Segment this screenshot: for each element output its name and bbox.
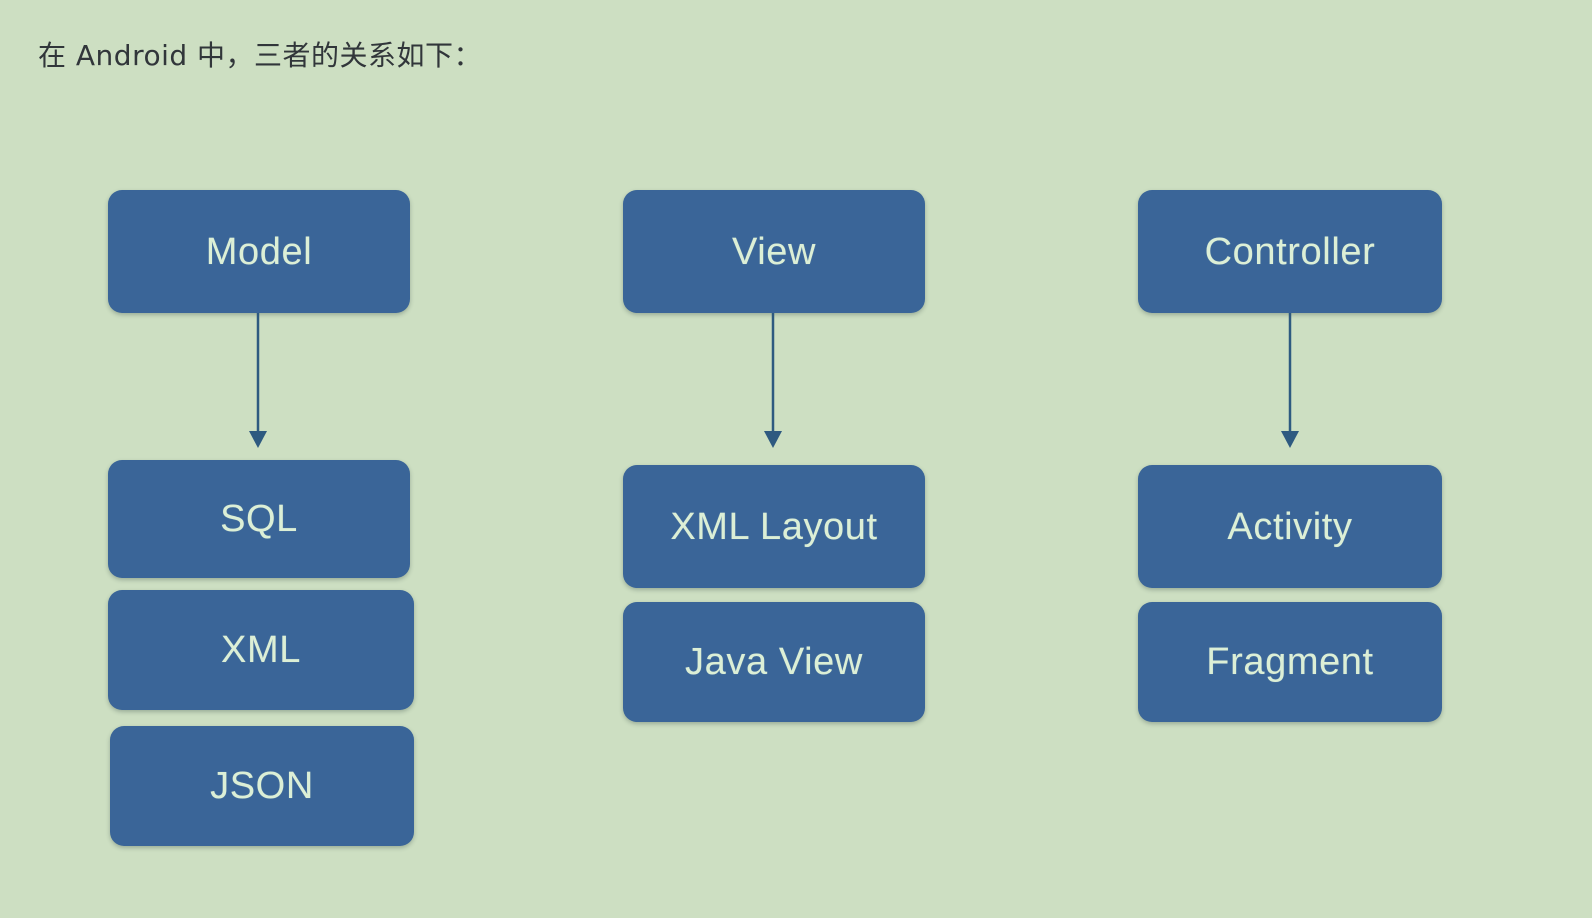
- node-fragment[interactable]: Fragment: [1138, 602, 1442, 722]
- node-label: Activity: [1227, 508, 1352, 546]
- node-label: Fragment: [1206, 643, 1373, 681]
- diagram-canvas: 在 Android 中，三者的关系如下： ModelSQLXMLJSONView…: [0, 0, 1592, 918]
- node-activity[interactable]: Activity: [1138, 465, 1442, 588]
- connector-arrow-down: [1276, 313, 1304, 448]
- node-controller[interactable]: Controller: [1138, 190, 1442, 313]
- node-label: Controller: [1205, 233, 1376, 271]
- mvc-diagram: ModelSQLXMLJSONViewXML LayoutJava ViewCo…: [0, 0, 1592, 918]
- controller-column: ControllerActivityFragment: [0, 0, 1592, 918]
- arrow-head-icon: [1281, 431, 1299, 448]
